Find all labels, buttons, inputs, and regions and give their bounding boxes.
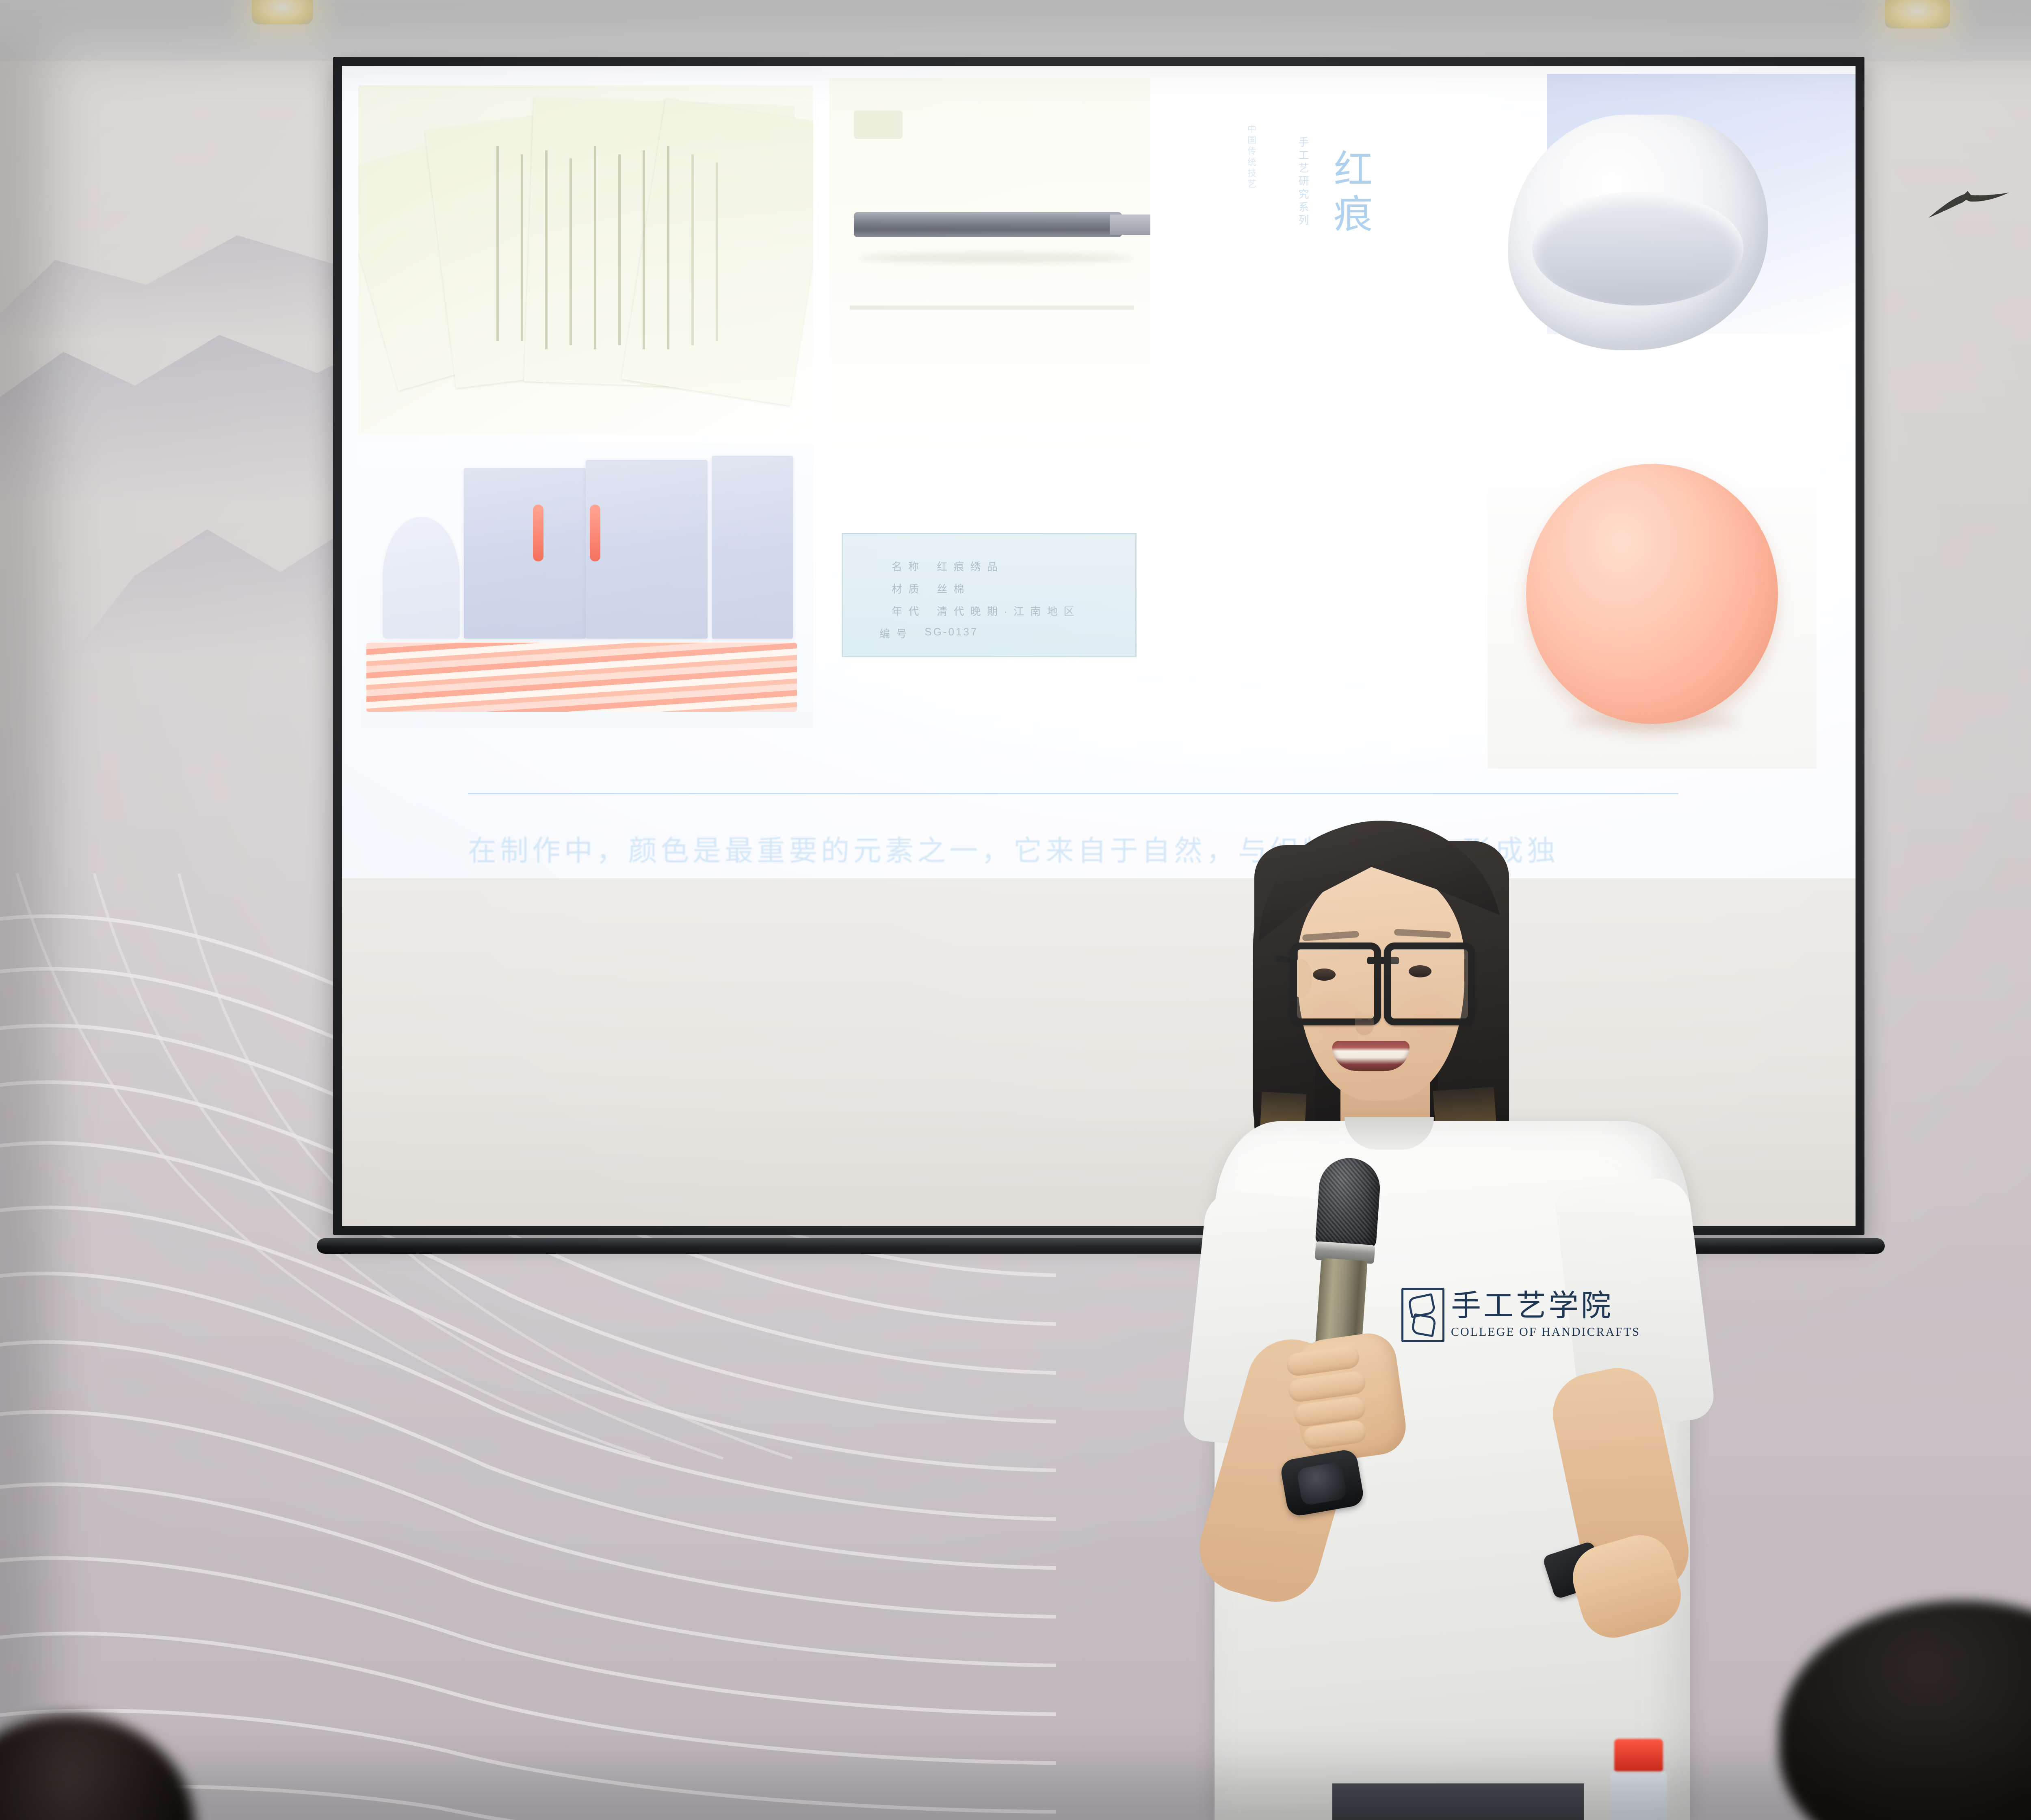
eye-left xyxy=(1313,968,1336,981)
eye-right xyxy=(1409,965,1431,977)
fanned-documents-photo xyxy=(358,85,813,435)
info-card-value: 红 痕 绣 品 xyxy=(937,559,999,574)
tshirt-logo: 手工艺学院 COLLEGE OF HANDICRAFTS xyxy=(1401,1288,1640,1342)
info-card-label: 材 质 xyxy=(892,581,920,596)
bottle-body xyxy=(1610,1771,1667,1820)
recessed-ceiling-light xyxy=(1885,0,1950,28)
nose xyxy=(1355,1011,1374,1035)
recessed-ceiling-light xyxy=(252,0,313,24)
info-card-label: 编 号 xyxy=(879,626,908,641)
handicrafts-college-emblem-icon xyxy=(1401,1288,1444,1342)
lecture-hall-scene: 红痕 手工艺研究系列 中国传统技艺 xyxy=(0,0,2031,1820)
info-card-label: 年 代 xyxy=(892,603,920,618)
slide-content: 红痕 手工艺研究系列 中国传统技艺 xyxy=(342,66,1856,878)
tool-rod-photo xyxy=(829,78,1154,460)
tshirt-logo-english: COLLEGE OF HANDICRAFTS xyxy=(1451,1325,1640,1339)
book-subtitle: 手工艺研究系列 xyxy=(1293,136,1313,227)
indigo-garments-photo xyxy=(358,444,813,728)
lens-right xyxy=(1384,942,1475,1025)
info-card-value: SG-0137 xyxy=(925,626,978,641)
info-card-value: 清 代 晚 期 · 江 南 地 区 xyxy=(937,603,1076,618)
hand-holding-microphone xyxy=(1288,1330,1409,1465)
book-cover-photo: 红痕 手工艺研究系列 中国传统技艺 xyxy=(1150,76,1435,478)
tshirt-logo-chinese: 手工艺学院 xyxy=(1451,1289,1613,1323)
info-card-photo: 名 称 红 痕 绣 品 材 质 丝 棉 年 代 清 代 晚 期 · 江 南 地 … xyxy=(842,533,1137,657)
info-card-value: 丝 棉 xyxy=(937,581,966,596)
bottle-cap xyxy=(1614,1739,1663,1773)
eyeglasses xyxy=(1290,942,1475,1018)
microphone-grille xyxy=(1315,1156,1382,1250)
book-subtitle-secondary: 中国传统技艺 xyxy=(1242,124,1260,190)
folded-white-cloth-photo xyxy=(1479,90,1796,375)
peach-disc-photo xyxy=(1488,444,1817,769)
presenter: 手工艺学院 COLLEGE OF HANDICRAFTS xyxy=(1210,808,1698,1820)
info-card-label: 名 称 xyxy=(892,559,920,574)
mouth xyxy=(1332,1041,1410,1071)
flying-bird-wall-decal xyxy=(1925,179,2019,223)
ripped-jeans xyxy=(1332,1783,1584,1820)
book-title: 红痕 xyxy=(1325,149,1374,238)
water-bottle xyxy=(1609,1739,1669,1820)
watch-face xyxy=(1296,1461,1347,1506)
